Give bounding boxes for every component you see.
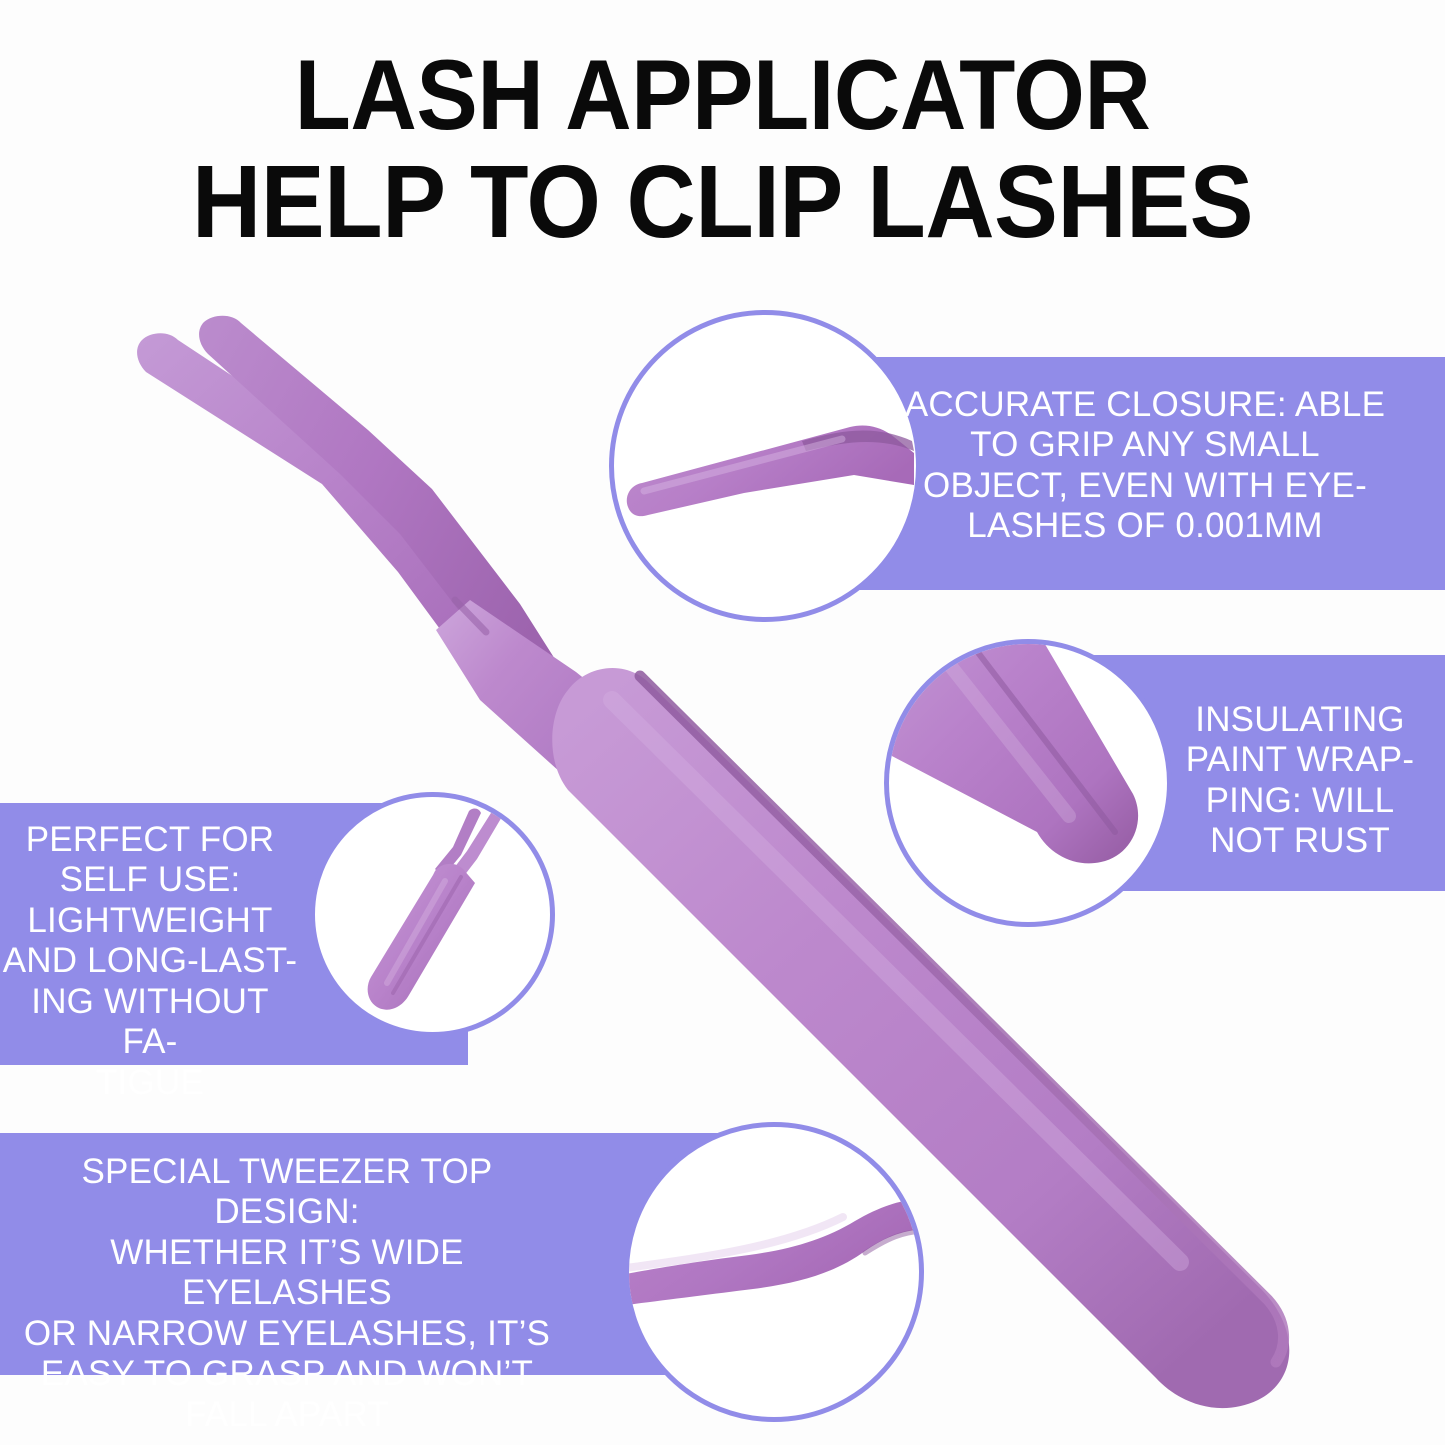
callout-line: EASY TO GRASP AND WON’T bbox=[22, 1354, 552, 1394]
title-line-2: HELP TO CLIP LASHES bbox=[51, 152, 1395, 253]
callout-line: TIGUE bbox=[0, 1063, 300, 1103]
callout-circle-insulating-paint-wrapping bbox=[884, 639, 1172, 927]
mini-handle bbox=[368, 864, 475, 1010]
infographic-canvas: LASH APPLICATOR HELP TO CLIP LASHES bbox=[0, 0, 1445, 1445]
callout-line: LASHES OF 0.001MM bbox=[895, 506, 1395, 546]
callout-line: LIGHTWEIGHT bbox=[0, 901, 300, 941]
handle-end-secondary bbox=[889, 880, 933, 922]
tweezer-upper-arm-front bbox=[199, 316, 572, 722]
title-line-1: LASH APPLICATOR bbox=[51, 46, 1395, 143]
callout-line: AND LONG-LAST- bbox=[0, 941, 300, 981]
callout-line: NOT RUST bbox=[1165, 821, 1435, 861]
page-title: LASH APPLICATOR HELP TO CLIP LASHES bbox=[0, 46, 1445, 253]
callout-line: SPECIAL TWEEZER TOP DESIGN: bbox=[22, 1152, 552, 1233]
detail-handle-end-icon bbox=[889, 644, 1167, 922]
callout-line: FALL APART bbox=[22, 1395, 552, 1435]
callout-line: PERFECT FOR bbox=[0, 820, 300, 860]
callout-line: ING WITHOUT FA- bbox=[0, 982, 300, 1063]
detail-curved-tip-icon bbox=[629, 1127, 919, 1417]
tweezer-arm-notch bbox=[455, 600, 486, 632]
callout-line: ACCURATE CLOSURE: ABLE bbox=[895, 385, 1395, 425]
callout-circle-accurate-closure bbox=[609, 310, 921, 622]
callout-circle-special-tweezer-top-design bbox=[624, 1122, 924, 1422]
callout-text-perfect-for-self-use: PERFECT FORSELF USE:LIGHTWEIGHTAND LONG-… bbox=[0, 820, 300, 1103]
callout-line: OBJECT, EVEN WITH EYE- bbox=[895, 466, 1395, 506]
callout-text-special-tweezer-top-design: SPECIAL TWEEZER TOP DESIGN:WHETHER IT’S … bbox=[22, 1152, 552, 1435]
tweezer-upper-arm-back bbox=[137, 333, 470, 640]
callout-line: WHETHER IT’S WIDE EYELASHES bbox=[22, 1233, 552, 1314]
callout-line: SELF USE: bbox=[0, 860, 300, 900]
callout-circle-perfect-for-self-use bbox=[310, 792, 555, 1037]
callout-line: INSULATING bbox=[1165, 700, 1435, 740]
callout-line: OR NARROW EYELASHES, IT’S bbox=[22, 1314, 552, 1354]
curved-tip-body bbox=[629, 1199, 919, 1307]
callout-text-insulating-paint-wrapping: INSULATINGPAINT WRAP-PING: WILLNOT RUST bbox=[1165, 700, 1435, 862]
detail-whole-tweezer-icon bbox=[315, 797, 550, 1032]
callout-line: TO GRIP ANY SMALL bbox=[895, 425, 1395, 465]
detail-closed-tweezer-tips-icon bbox=[614, 315, 916, 617]
callout-line: PAINT WRAP- bbox=[1165, 740, 1435, 780]
callout-line: PING: WILL bbox=[1165, 781, 1435, 821]
callout-text-accurate-closure: ACCURATE CLOSURE: ABLETO GRIP ANY SMALLO… bbox=[895, 385, 1395, 547]
